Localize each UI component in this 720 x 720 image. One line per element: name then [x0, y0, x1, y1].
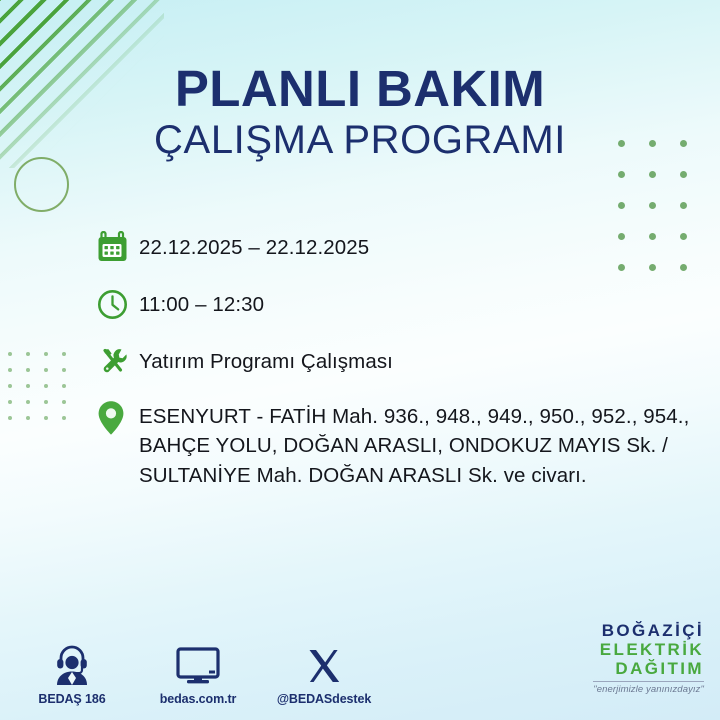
- dot: [8, 368, 12, 372]
- location-pin-icon: [97, 399, 139, 437]
- dot-grid-left-decoration: [8, 352, 80, 432]
- detail-row-date: 22.12.2025 – 22.12.2025: [97, 228, 697, 266]
- support-agent-icon: [53, 645, 91, 685]
- dot: [26, 400, 30, 404]
- dot: [62, 384, 66, 388]
- title-subtitle: ÇALIŞMA PROGRAMI: [0, 117, 720, 164]
- dot: [649, 202, 656, 209]
- dot: [26, 368, 30, 372]
- footer-contacts: BEDAŞ 186 bedas.com.tr @BEDASdestek: [26, 645, 370, 706]
- dot: [62, 416, 66, 420]
- logo-line-bogazici: BOĞAZİÇİ: [593, 621, 704, 640]
- dot: [8, 416, 12, 420]
- detail-row-work-type: Yatırım Programı Çalışması: [97, 342, 697, 380]
- dot: [44, 368, 48, 372]
- dot: [680, 171, 687, 178]
- detail-row-address: ESENYURT - FATİH Mah. 936., 948., 949., …: [97, 399, 697, 490]
- dot: [26, 352, 30, 356]
- detail-row-time: 11:00 – 12:30: [97, 285, 697, 323]
- logo-tagline: "enerjimizle yanınızdayız": [593, 681, 704, 696]
- dot: [8, 400, 12, 404]
- footer-item-call-center[interactable]: BEDAŞ 186: [26, 645, 118, 706]
- page-title: PLANLI BAKIM ÇALIŞMA PROGRAMI: [0, 62, 720, 164]
- footer-label-call-center: BEDAŞ 186: [38, 692, 105, 706]
- dot: [26, 384, 30, 388]
- circle-outline-decoration: [14, 157, 69, 212]
- footer-item-website[interactable]: bedas.com.tr: [152, 645, 244, 706]
- footer-label-x-account: @BEDASdestek: [277, 692, 371, 706]
- x-twitter-icon: [306, 645, 342, 685]
- dot: [44, 400, 48, 404]
- work-type-value: Yatırım Programı Çalışması: [139, 342, 393, 376]
- dot: [618, 171, 625, 178]
- time-range-value: 11:00 – 12:30: [139, 285, 264, 319]
- calendar-icon: [97, 228, 139, 266]
- dot: [26, 416, 30, 420]
- dot: [8, 384, 12, 388]
- dot: [62, 352, 66, 356]
- clock-icon: [97, 285, 139, 323]
- footer-label-website: bedas.com.tr: [160, 692, 237, 706]
- dot: [44, 352, 48, 356]
- dot: [44, 384, 48, 388]
- date-range-value: 22.12.2025 – 22.12.2025: [139, 228, 369, 262]
- dot: [680, 202, 687, 209]
- address-value: ESENYURT - FATİH Mah. 936., 948., 949., …: [139, 399, 697, 490]
- logo-line-elektrik: ELEKTRİK: [593, 640, 704, 659]
- title-main: PLANLI BAKIM: [0, 62, 720, 115]
- footer-item-x-account[interactable]: @BEDASdestek: [278, 645, 370, 706]
- logo-line-dagitim: DAĞITIM: [593, 659, 704, 678]
- dot: [618, 202, 625, 209]
- dot: [649, 171, 656, 178]
- dot: [62, 400, 66, 404]
- maintenance-details: 22.12.2025 – 22.12.2025 11:00 – 12:30 Ya…: [97, 228, 697, 509]
- tools-icon: [97, 342, 139, 380]
- bogazici-elektrik-dagitim-logo: BOĞAZİÇİ ELEKTRİK DAĞITIM "enerjimizle y…: [593, 621, 704, 696]
- dot: [44, 416, 48, 420]
- monitor-icon: [176, 645, 220, 685]
- dot: [8, 352, 12, 356]
- dot: [62, 368, 66, 372]
